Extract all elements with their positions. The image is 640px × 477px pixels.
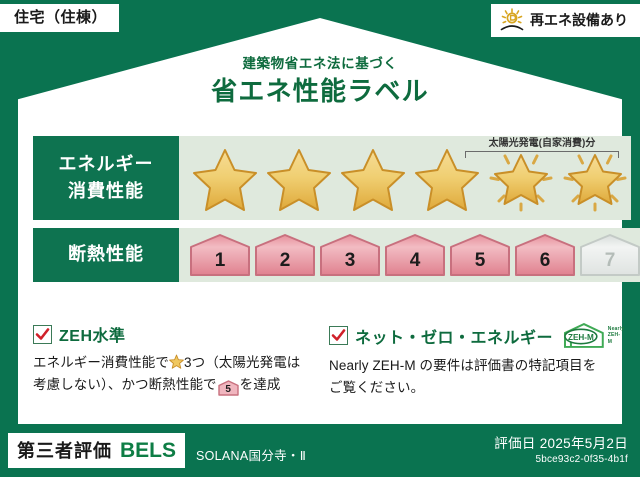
insulation-grade-7-value: 7 [605, 251, 616, 277]
star-icon-filled-4 [411, 144, 483, 212]
row-energy-label: エネルギー 消費性能 [33, 136, 179, 220]
evaluation-date: 評価日 2025年5月2日 [494, 432, 628, 452]
panel-zeh-body-part-3: を達成 [240, 377, 281, 392]
insulation-grade-6-value: 6 [540, 251, 551, 277]
insulation-grade-4-value: 4 [410, 251, 421, 277]
row-energy-value: 太陽光発電(自家消費)分 [179, 136, 631, 220]
insulation-grade-inline-5-value: 5 [218, 380, 239, 400]
panel-zeh-standard-title: ZEH水準 [59, 322, 126, 346]
star-icon-solar-5 [485, 144, 557, 212]
insulation-grade-2-value: 2 [280, 251, 291, 277]
row-energy-label-line2: 消費性能 [33, 178, 179, 205]
star-icon-filled-3 [337, 144, 409, 212]
sun-icon [499, 8, 525, 32]
insulation-grade-scale: 1 2 3 [179, 233, 640, 277]
star-icon-filled-2 [263, 144, 335, 212]
svg-text:ZEH-M: ZEH-M [568, 333, 594, 342]
star-rating [179, 144, 631, 212]
badge-renewable-equipment: 再エネ設備あり [491, 4, 640, 37]
row-energy-performance: エネルギー 消費性能 [33, 136, 607, 220]
star-icon-filled-1 [189, 144, 261, 212]
row-energy-label-line1: エネルギー [33, 151, 179, 178]
checkbox-net-zero-energy[interactable] [329, 326, 348, 345]
panel-zeh-standard-head: ZEH水準 [33, 322, 311, 346]
insulation-grade-1-value: 1 [215, 251, 226, 277]
check-icon [331, 328, 346, 343]
criteria-panels: ZEH水準 エネルギー消費性能で 3つ（太陽光発電は考慮しない）、かつ断熱性能で… [33, 322, 607, 399]
insulation-grade-inline-5: 5 [218, 380, 239, 396]
footer-bar: 第三者評価 BELS SOLANA国分寺・Ⅱ 評価日 2025年5月2日 5bc… [0, 424, 640, 477]
bels-badge-en: BELS [120, 439, 176, 463]
panel-net-zero-energy-head: ネット・ゼロ・エネルギー ZEH-M Nearly ZEH-M [329, 322, 607, 349]
checkbox-zeh-standard[interactable] [33, 325, 52, 344]
bels-badge-jp: 第三者評価 [17, 437, 112, 463]
star-icon-inline [169, 354, 184, 369]
panel-zeh-standard: ZEH水準 エネルギー消費性能で 3つ（太陽光発電は考慮しない）、かつ断熱性能で… [33, 322, 311, 399]
insulation-grade-2: 2 [254, 233, 316, 277]
insulation-grade-3-value: 3 [345, 251, 356, 277]
bels-badge: 第三者評価 BELS [8, 433, 185, 468]
badge-building-type-label: 住宅（住棟） [14, 9, 107, 26]
rating-rows: エネルギー 消費性能 [33, 136, 607, 290]
energy-label-card: 住宅（住棟） 再エネ設備あり 建築物省エネ法に基づく [0, 0, 640, 477]
building-name: SOLANA国分寺・Ⅱ [196, 445, 306, 464]
row-insulation-label: 断熱性能 [33, 228, 179, 282]
panel-net-zero-energy-title: ネット・ゼロ・エネルギー [355, 324, 553, 348]
insulation-grade-6: 6 [514, 233, 576, 277]
row-insulation-label-text: 断熱性能 [33, 244, 179, 266]
zeh-m-logo: ZEH-M Nearly ZEH-M [562, 322, 625, 349]
insulation-grade-5-value: 5 [475, 251, 486, 277]
check-icon [35, 327, 50, 342]
label-subtitle: 建築物省エネ法に基づく [0, 56, 640, 72]
star-icon-solar-6 [559, 144, 631, 212]
badge-building-type: 住宅（住棟） [0, 4, 119, 32]
label-title-block: 建築物省エネ法に基づく 省エネ性能ラベル [0, 56, 640, 107]
badge-renewable-label: 再エネ設備あり [530, 12, 628, 28]
insulation-grade-4: 4 [384, 233, 446, 277]
insulation-grade-7: 7 [579, 233, 640, 277]
zeh-m-logo-sub-line2: ZEH-M [608, 332, 620, 344]
panel-zeh-body-part-1: エネルギー消費性能で [33, 355, 169, 370]
row-insulation-value: 1 2 3 [179, 228, 640, 282]
panel-net-zero-energy-body: Nearly ZEH-M の要件は評価書の特記項目をご覧ください。 [329, 355, 607, 399]
zeh-m-logo-sub-line1: Nearly [608, 326, 625, 332]
insulation-grade-5: 5 [449, 233, 511, 277]
panel-zeh-standard-body: エネルギー消費性能で 3つ（太陽光発電は考慮しない）、かつ断熱性能で 5を達成 [33, 352, 311, 396]
row-insulation-performance: 断熱性能 [33, 228, 607, 282]
insulation-grade-3: 3 [319, 233, 381, 277]
panel-net-zero-energy: ネット・ゼロ・エネルギー ZEH-M Nearly ZEH-M Nearly Z… [329, 322, 607, 399]
insulation-grade-1: 1 [189, 233, 251, 277]
zeh-m-logo-subtext: Nearly ZEH-M [608, 326, 625, 345]
evaluation-id: 5bce93c2-0f35-4b1f [494, 454, 628, 465]
evaluation-info: 評価日 2025年5月2日 5bce93c2-0f35-4b1f [494, 432, 628, 465]
label-main-title: 省エネ性能ラベル [0, 76, 640, 107]
